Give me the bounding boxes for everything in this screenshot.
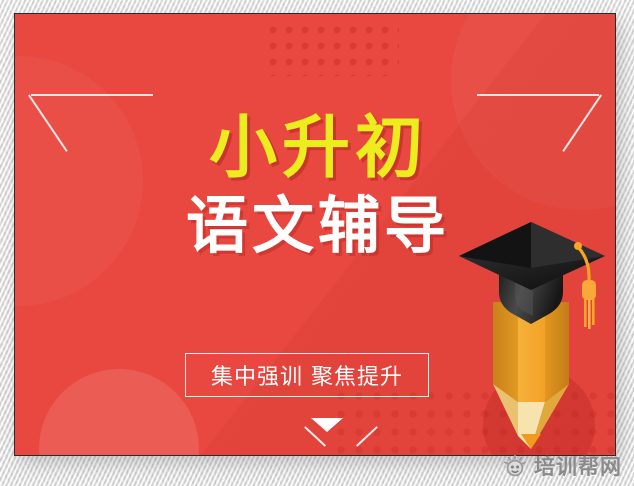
tagline-text: 集中强训 聚焦提升 (211, 359, 403, 391)
poster-canvas: 小升初 语文辅导 集中强训 聚焦提升 (0, 0, 634, 486)
corner-line-left-horizontal (31, 94, 153, 96)
page-title-primary: 小升初 (15, 114, 616, 185)
watermark-text: 培训帮网 (534, 451, 622, 481)
tagline-box: 集中强训 聚焦提升 (185, 353, 429, 397)
chevron-down-solid (311, 418, 343, 432)
promo-banner-card: 小升初 语文辅导 集中强训 聚焦提升 (14, 13, 616, 456)
chevron-down-icon[interactable] (302, 418, 352, 456)
pencil-with-graduation-cap-icon (459, 206, 611, 451)
site-watermark: 培训帮网 (497, 448, 628, 484)
sun-face-icon (503, 454, 527, 478)
corner-line-right-horizontal (477, 94, 599, 96)
dot-grid-top-icon (269, 26, 399, 76)
